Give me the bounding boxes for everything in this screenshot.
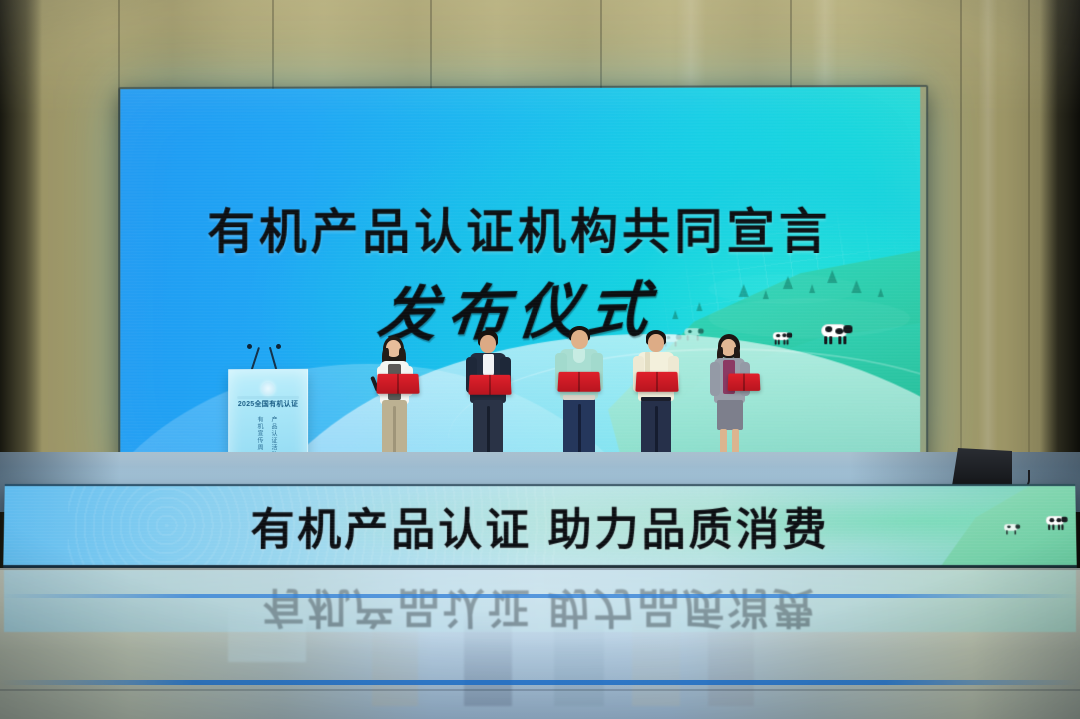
red-folder — [376, 374, 419, 394]
red-folder — [728, 374, 761, 391]
lower-led-banner-wrapper: 有机产品认证 助力品质消费 — [3, 484, 1077, 568]
lower-led-banner: 有机产品认证 助力品质消费 — [3, 484, 1077, 568]
microphone-head-left — [247, 344, 252, 349]
podium-main-text: 2025全国有机认证 — [235, 400, 301, 409]
podium-divider — [237, 396, 299, 399]
reflective-floor: 有机产品认证 助力品质消费 — [0, 568, 1080, 719]
stage-monitor-speaker — [952, 448, 1012, 486]
screen-subheadline: 发布仪式 — [120, 255, 920, 358]
red-folder — [635, 372, 678, 392]
screen-headline: 有机产品认证机构共同宣言 — [120, 192, 920, 263]
floor-gloss-highlight — [0, 568, 1080, 719]
banner-landscape-graphic — [895, 484, 1076, 568]
podium-vertical-text-2: 有机宣传周 — [255, 416, 263, 451]
red-folder — [557, 372, 600, 392]
podium-emblem-icon — [262, 382, 275, 395]
banner-slogan: 有机产品认证 助力品质消费 — [3, 494, 1076, 558]
microphone-head-right — [276, 344, 281, 349]
red-folder — [468, 375, 511, 395]
event-stage-photo: 有机产品认证机构共同宣言 发布仪式 2025全国有机认证 产品认证活动 有机宣传… — [0, 0, 1080, 719]
banner-moire-texture — [67, 484, 561, 568]
